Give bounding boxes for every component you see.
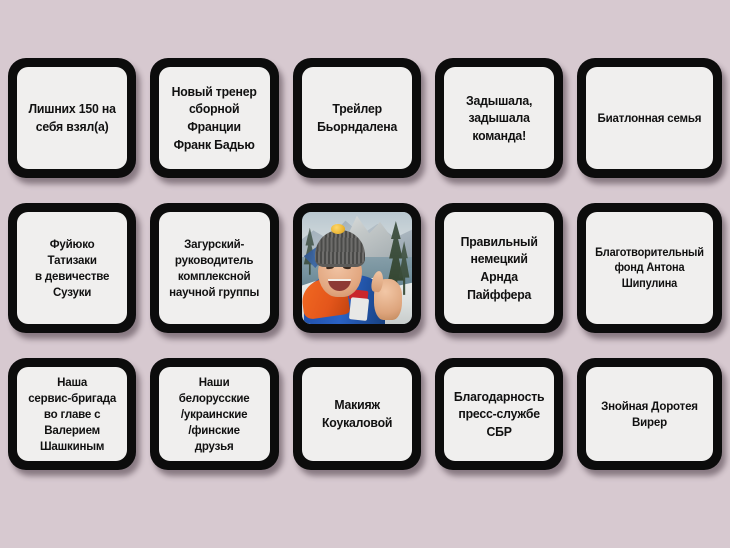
bingo-card-face: Задышала, задышала команда! bbox=[444, 67, 554, 169]
bingo-card-label: Биатлонная семья bbox=[595, 110, 704, 126]
bingo-card-face: Благотворительный фонд Антона Шипулина bbox=[586, 212, 713, 324]
bingo-card-label: Трейлер Бьорндалена bbox=[310, 100, 403, 135]
bingo-card[interactable]: Фуйюко Татизаки в девичестве Сузуки bbox=[8, 203, 136, 333]
bingo-card[interactable]: Задышала, задышала команда! bbox=[435, 58, 563, 178]
bingo-card-label: Макияж Коукаловой bbox=[310, 396, 403, 431]
bingo-card-label: Фуйюко Татизаки в девичестве Сузуки bbox=[26, 236, 119, 301]
pom-pom bbox=[331, 224, 344, 234]
bingo-card-face: Благодарность пресс-службе СБР bbox=[444, 367, 554, 461]
bingo-card[interactable]: Загурский- руководитель комплексной науч… bbox=[150, 203, 278, 333]
bingo-card-face: Знойная Доротея Вирер bbox=[586, 367, 713, 461]
bingo-card-label: Знойная Доротея Вирер bbox=[595, 398, 704, 430]
bingo-card-face: Биатлонная семья bbox=[586, 67, 713, 169]
bingo-card-photo[interactable] bbox=[293, 203, 421, 333]
bingo-card-label: Правильный немецкий Арнда Пайффера bbox=[452, 233, 545, 303]
bingo-card-face: Лишних 150 на себя взял(а) bbox=[17, 67, 127, 169]
bingo-card[interactable]: Трейлер Бьорндалена bbox=[293, 58, 421, 178]
bingo-card-face: Фуйюко Татизаки в девичестве Сузуки bbox=[17, 212, 127, 324]
bingo-card-label: Лишних 150 на себя взял(а) bbox=[26, 100, 119, 135]
bingo-card[interactable]: Знойная Доротея Вирер bbox=[577, 358, 722, 470]
bingo-card-label: Благодарность пресс-службе СБР bbox=[452, 388, 545, 441]
bingo-card-face: Новый тренер сборной Франции Франк Бадью bbox=[159, 67, 269, 169]
bingo-board: Лишних 150 на себя взял(а) Новый тренер … bbox=[0, 0, 730, 548]
bingo-card-label: Загурский- руководитель комплексной науч… bbox=[168, 236, 261, 301]
bingo-card[interactable]: Правильный немецкий Арнда Пайффера bbox=[435, 203, 563, 333]
bib-white-patch bbox=[349, 297, 369, 321]
bingo-card[interactable]: Наша сервис-бригада во главе с Валерием … bbox=[8, 358, 136, 470]
bingo-grid: Лишних 150 на себя взял(а) Новый тренер … bbox=[8, 58, 722, 476]
bingo-card[interactable]: Лишних 150 на себя взял(а) bbox=[8, 58, 136, 178]
bingo-card-face bbox=[302, 212, 412, 324]
bingo-card-label: Наша сервис-бригада во главе с Валерием … bbox=[26, 374, 119, 455]
bingo-card[interactable]: Благодарность пресс-службе СБР bbox=[435, 358, 563, 470]
bingo-card-face: Загурский- руководитель комплексной науч… bbox=[159, 212, 269, 324]
bingo-card[interactable]: Макияж Коукаловой bbox=[293, 358, 421, 470]
bingo-card-face: Трейлер Бьорндалена bbox=[302, 67, 412, 169]
bingo-card[interactable]: Биатлонная семья bbox=[577, 58, 722, 178]
bingo-card-face: Макияж Коукаловой bbox=[302, 367, 412, 461]
bingo-card[interactable]: Наши белорусские /украинские /финские др… bbox=[150, 358, 278, 470]
bingo-card-label: Благотворительный фонд Антона Шипулина bbox=[595, 245, 704, 290]
bingo-card-face: Наша сервис-бригада во главе с Валерием … bbox=[17, 367, 127, 461]
bingo-card-label: Наши белорусские /украинские /финские др… bbox=[168, 374, 261, 455]
bingo-card[interactable]: Новый тренер сборной Франции Франк Бадью bbox=[150, 58, 278, 178]
bingo-card-label: Задышала, задышала команда! bbox=[452, 92, 545, 145]
bingo-card-face: Правильный немецкий Арнда Пайффера bbox=[444, 212, 554, 324]
bingo-card-label: Новый тренер сборной Франции Франк Бадью bbox=[168, 83, 261, 153]
winter-portrait-photo bbox=[302, 212, 412, 324]
bingo-card-face: Наши белорусские /украинские /финские др… bbox=[159, 367, 269, 461]
bingo-card[interactable]: Благотворительный фонд Антона Шипулина bbox=[577, 203, 722, 333]
